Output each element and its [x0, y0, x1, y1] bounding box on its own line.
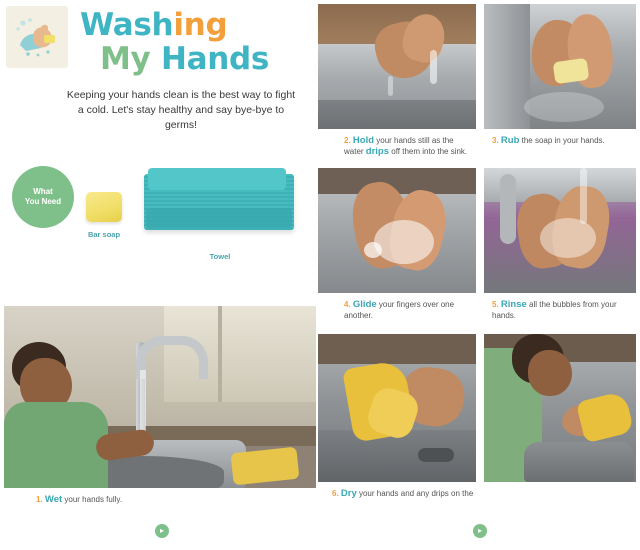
- step-4-photo: [318, 168, 476, 293]
- step-2-caption: 2. Hold your hands still as the water dr…: [344, 135, 472, 157]
- step-3-keyword: Rub: [501, 135, 519, 146]
- what-you-need-line2: You Need: [25, 197, 61, 207]
- step-6-panel: 6. Dry your hands and any drips on the s…: [318, 334, 476, 516]
- step-1-number: 1.: [36, 495, 43, 504]
- step-3-number: 3.: [492, 136, 499, 145]
- step-6-number: 6.: [332, 489, 339, 498]
- step-3-text: the soap in your hands.: [519, 136, 604, 145]
- folded-towel-icon: [144, 168, 294, 246]
- title-part-hands: Hands: [161, 41, 269, 77]
- step-1-keyword: Wet: [45, 494, 62, 505]
- step-4-panel: 4. Glide your fingers over one another.: [318, 168, 476, 328]
- step-4-keyword: Glide: [353, 299, 377, 310]
- step-1-panel: 1. Wet your hands fully.: [4, 306, 316, 516]
- page-title: Washing My Hands: [78, 8, 308, 76]
- supply-towel: Towel: [140, 168, 300, 261]
- step-1-text: your hands fully.: [62, 495, 122, 504]
- step-6-photo: [318, 334, 476, 482]
- extra-photo: [484, 334, 636, 482]
- header-block: Washing My Hands Keeping your hands clea…: [0, 0, 312, 300]
- worksheet-page: Washing My Hands Keeping your hands clea…: [0, 0, 640, 550]
- step-5-caption: 5. Rinse all the bubbles from your hands…: [492, 299, 632, 321]
- step-6-keyword: Dry: [341, 488, 357, 499]
- step-2-panel: 2. Hold your hands still as the water dr…: [318, 4, 476, 162]
- step-3-panel: 3. Rub the soap in your hands.: [484, 4, 636, 162]
- step-4-number: 4.: [344, 300, 351, 309]
- step-2-emphasis: drips: [366, 146, 389, 157]
- subtitle-text: Keeping your hands clean is the best way…: [66, 88, 296, 133]
- what-you-need-badge: What You Need: [12, 166, 74, 228]
- nav-arrow-left[interactable]: ▸: [155, 524, 169, 538]
- step-1-photo: [4, 306, 316, 488]
- step-6-caption: 6. Dry your hands and any drips on the s…: [332, 488, 476, 499]
- what-you-need-line1: What: [33, 187, 53, 197]
- step-5-number: 5.: [492, 300, 499, 309]
- step-3-photo: [484, 4, 636, 129]
- step-6-text: your hands and any drips on the sink wit…: [357, 489, 476, 498]
- step-2-photo: [318, 4, 476, 129]
- step-2-text2: off them into the sink.: [389, 147, 467, 156]
- step-2-number: 2.: [344, 136, 351, 145]
- title-part-wash: Wash: [80, 7, 173, 43]
- hand-washing-icon: [6, 6, 68, 68]
- step-5-keyword: Rinse: [501, 299, 527, 310]
- step-3-caption: 3. Rub the soap in your hands.: [492, 135, 632, 146]
- title-part-my: My: [100, 41, 150, 77]
- title-part-ing: ing: [173, 7, 227, 43]
- supply-bar-soap: Bar soap: [82, 192, 126, 239]
- step-4-caption: 4. Glide your fingers over one another.: [344, 299, 470, 321]
- step-1-caption: 1. Wet your hands fully.: [36, 494, 296, 505]
- step-2-keyword: Hold: [353, 135, 374, 146]
- step-5-photo: [484, 168, 636, 293]
- footer-bar: ▸ ▸: [0, 514, 640, 550]
- supply-label-soap: Bar soap: [82, 230, 126, 239]
- extra-photo-panel: [484, 334, 636, 482]
- step-5-panel: 5. Rinse all the bubbles from your hands…: [484, 168, 636, 328]
- nav-arrow-right[interactable]: ▸: [473, 524, 487, 538]
- supply-label-towel: Towel: [140, 252, 300, 261]
- soap-bar-icon: [86, 192, 122, 222]
